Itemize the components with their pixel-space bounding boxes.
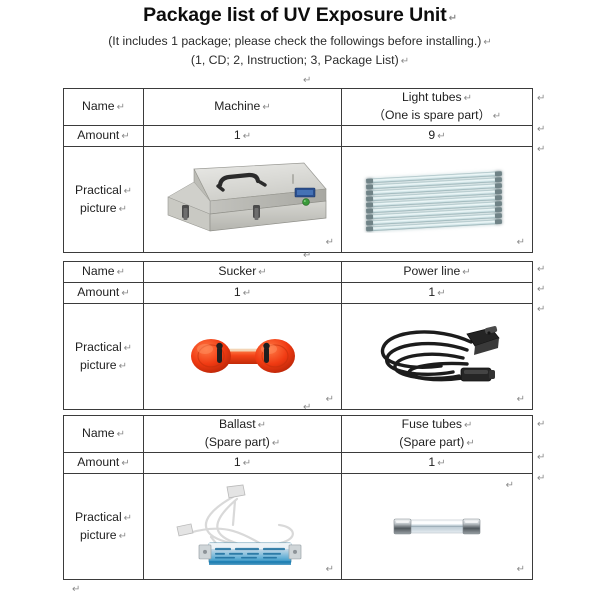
item-amount-sucker: 1↵ <box>144 283 342 304</box>
item-name-machine: Machine↵ <box>144 89 342 126</box>
item-name-line2: (Spare part) <box>205 435 270 449</box>
item-name-line2: (Spare part) <box>399 435 464 449</box>
item-name-line2: （One is spare part） <box>373 108 491 122</box>
subtitle-line-2: (1, CD; 2, Instruction; 3, Package List)… <box>0 52 600 70</box>
paragraph-mark-icon: ↵ <box>517 564 525 575</box>
paragraph-mark-icon: ↵ <box>537 94 545 104</box>
paragraph-mark-icon: ↵ <box>537 125 545 135</box>
paragraph-mark-icon: ↵ <box>270 438 280 449</box>
subtitle-line-1-text: (It includes 1 package; please check the… <box>108 34 481 48</box>
item-name-power-line: Power line↵ <box>342 262 533 283</box>
label-name: Name <box>82 426 115 440</box>
label-amount: Amount <box>77 128 119 142</box>
paragraph-mark-icon: ↵ <box>537 285 545 295</box>
table-row: Name↵ Ballast↵ (Spare part)↵ Fuse tubes↵ <box>64 416 533 453</box>
label-name: Name <box>82 264 115 278</box>
item-amount-machine: 1↵ <box>144 126 342 147</box>
label-picture: picture <box>80 528 117 542</box>
label-amount: Amount <box>77 285 119 299</box>
amount-value: 1 <box>234 285 241 299</box>
paragraph-mark-icon: ↵ <box>122 513 132 524</box>
row-header-practical-picture: Practical↵ picture↵ <box>64 147 144 253</box>
paragraph-mark-icon: ↵ <box>517 237 525 248</box>
paragraph-mark-icon: ↵ <box>537 145 545 155</box>
paragraph-mark-icon: ↵ <box>241 458 251 469</box>
paragraph-mark-icon: ↵ <box>447 13 457 24</box>
paragraph-mark-icon: ↵ <box>462 420 472 431</box>
amount-value: 1 <box>234 128 241 142</box>
paragraph-mark-icon: ↵ <box>537 474 545 484</box>
row-header-amount: Amount↵ <box>64 126 144 147</box>
paragraph-mark-icon: ↵ <box>537 265 545 275</box>
sucker-photo <box>183 329 303 381</box>
table-row: Practical↵ picture↵ <box>64 304 533 410</box>
package-table-2: Name↵ Sucker↵ Power line↵ Amount↵ 1↵ 1↵ <box>63 261 533 410</box>
paragraph-mark-icon: ↵ <box>460 267 470 278</box>
table-row: Amount↵ 1↵ 9↵ <box>64 126 533 147</box>
row-header-amount: Amount↵ <box>64 283 144 304</box>
paragraph-mark-icon: ↵ <box>117 361 127 372</box>
label-practical: Practical <box>75 510 122 524</box>
item-name-sucker: Sucker↵ <box>144 262 342 283</box>
paragraph-mark-icon: ↵ <box>435 131 445 142</box>
paragraph-mark-icon: ↵ <box>256 420 266 431</box>
paragraph-mark-icon: ↵ <box>117 204 127 215</box>
item-picture-machine: ↵ <box>144 147 342 253</box>
paragraph-mark-icon: ↵ <box>303 251 311 261</box>
item-name-ballast: Ballast↵ (Spare part)↵ <box>144 416 342 453</box>
amount-value: 1 <box>234 455 241 469</box>
paragraph-mark-icon: ↵ <box>326 564 334 575</box>
row-header-amount: Amount↵ <box>64 453 144 474</box>
paragraph-mark-icon: ↵ <box>435 458 445 469</box>
subtitle-line-2-text: (1, CD; 2, Instruction; 3, Package List) <box>191 53 399 67</box>
paragraph-mark-icon: ↵ <box>117 531 127 542</box>
label-practical: Practical <box>75 340 122 354</box>
package-table-1: Name↵ Machine↵ Light tubes↵ （One is spar… <box>63 88 533 253</box>
paragraph-mark-icon: ↵ <box>303 76 311 86</box>
light-tubes-photo <box>361 167 513 233</box>
row-header-name: Name↵ <box>64 89 144 126</box>
table-row: Name↵ Machine↵ Light tubes↵ （One is spar… <box>64 89 533 126</box>
item-picture-sucker: ↵ <box>144 304 342 410</box>
paragraph-mark-icon: ↵ <box>481 37 491 48</box>
paragraph-mark-icon: ↵ <box>462 93 472 104</box>
item-name-line1: Light tubes <box>402 90 462 104</box>
row-header-practical-picture: Practical↵ picture↵ <box>64 474 144 580</box>
package-table-3: Name↵ Ballast↵ (Spare part)↵ Fuse tubes↵ <box>63 415 533 580</box>
item-name-fuse-tubes: Fuse tubes↵ (Spare part)↵ <box>342 416 533 453</box>
label-name: Name <box>82 99 115 113</box>
paragraph-mark-icon: ↵ <box>464 438 474 449</box>
page-title-text: Package list of UV Exposure Unit <box>143 4 446 26</box>
item-picture-power-line: ↵ <box>342 304 533 410</box>
paragraph-mark-icon: ↵ <box>537 420 545 430</box>
table-row: Practical↵ picture↵ <box>64 474 533 580</box>
item-picture-light-tubes: ↵ <box>342 147 533 253</box>
item-picture-fuse-tubes: ↵ ↵ <box>342 474 533 580</box>
paragraph-mark-icon: ↵ <box>119 288 129 299</box>
paragraph-mark-icon: ↵ <box>72 585 80 595</box>
paragraph-mark-icon: ↵ <box>241 131 251 142</box>
paragraph-mark-icon: ↵ <box>491 111 501 122</box>
table-row: Name↵ Sucker↵ Power line↵ <box>64 262 533 283</box>
table-row: Amount↵ 1↵ 1↵ <box>64 283 533 304</box>
paragraph-mark-icon: ↵ <box>260 102 270 113</box>
label-picture: picture <box>80 201 117 215</box>
paragraph-mark-icon: ↵ <box>517 394 525 405</box>
item-name-line1: Ballast <box>219 417 256 431</box>
paragraph-mark-icon: ↵ <box>115 267 125 278</box>
paragraph-mark-icon: ↵ <box>435 288 445 299</box>
item-name-line1: Power line <box>403 264 460 278</box>
row-header-name: Name↵ <box>64 416 144 453</box>
item-amount-fuse-tubes: 1↵ <box>342 453 533 474</box>
label-practical: Practical <box>75 183 122 197</box>
row-header-name: Name↵ <box>64 262 144 283</box>
machine-photo <box>154 161 332 239</box>
label-picture: picture <box>80 358 117 372</box>
item-picture-ballast: ↵ <box>144 474 342 580</box>
power-line-photo <box>367 320 507 394</box>
item-name-line1: Fuse tubes <box>402 417 462 431</box>
item-name-light-tubes: Light tubes↵ （One is spare part）↵ <box>342 89 533 126</box>
item-amount-power-line: 1↵ <box>342 283 533 304</box>
paragraph-mark-icon: ↵ <box>119 458 129 469</box>
item-amount-light-tubes: 9↵ <box>342 126 533 147</box>
item-name-line1: Sucker <box>218 264 256 278</box>
paragraph-mark-icon: ↵ <box>241 288 251 299</box>
paragraph-mark-icon: ↵ <box>115 102 125 113</box>
table-row: Practical↵ picture↵ <box>64 147 533 253</box>
paragraph-mark-icon: ↵ <box>326 237 334 248</box>
paragraph-mark-icon: ↵ <box>122 343 132 354</box>
item-amount-ballast: 1↵ <box>144 453 342 474</box>
paragraph-mark-icon: ↵ <box>537 305 545 315</box>
paragraph-mark-icon: ↵ <box>122 186 132 197</box>
paragraph-mark-icon: ↵ <box>399 56 409 67</box>
label-amount: Amount <box>77 455 119 469</box>
item-name-line1: Machine <box>214 99 260 113</box>
paragraph-mark-icon: ↵ <box>506 480 514 491</box>
paragraph-mark-icon: ↵ <box>119 131 129 142</box>
paragraph-mark-icon: ↵ <box>326 394 334 405</box>
paragraph-mark-icon: ↵ <box>256 267 266 278</box>
table-row: Amount↵ 1↵ 1↵ <box>64 453 533 474</box>
paragraph-mark-icon: ↵ <box>537 453 545 463</box>
ballast-photo <box>163 480 323 576</box>
subtitle-line-1: (It includes 1 package; please check the… <box>0 32 600 52</box>
row-header-practical-picture: Practical↵ picture↵ <box>64 304 144 410</box>
fuse-tube-photo <box>389 512 485 542</box>
page-title: Package list of UV Exposure Unit↵ <box>0 4 600 30</box>
paragraph-mark-icon: ↵ <box>115 429 125 440</box>
document-page: Package list of UV Exposure Unit↵ (It in… <box>0 4 600 604</box>
paragraph-mark-icon: ↵ <box>303 403 311 413</box>
